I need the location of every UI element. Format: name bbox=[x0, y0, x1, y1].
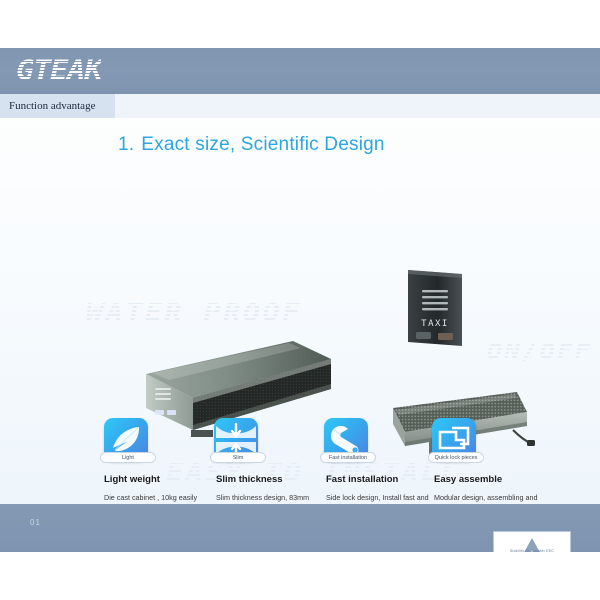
breadcrumb-label: Function advantage bbox=[0, 100, 95, 112]
feature-body: Die cast cabinet , 10kg easily move and … bbox=[104, 492, 212, 504]
feature-title: Fast installation bbox=[326, 474, 434, 485]
breadcrumb-bar-rest bbox=[115, 94, 600, 118]
feature-body: Modular design, assembling and disassemb… bbox=[434, 492, 552, 504]
watermark-water-proof: WATER PROOF bbox=[86, 298, 302, 327]
feature-body: Slim thickness design, 83mm only bbox=[216, 492, 324, 504]
feature-item-easy-assemble[interactable]: Quick lock pieces bbox=[432, 418, 544, 462]
feature-body: Side lock design, Install fast and conve… bbox=[326, 492, 434, 504]
slide-content: 1.Exact size, Scientific Design WATER PR… bbox=[0, 118, 600, 504]
feature-text-easy-assemble: Easy assemble Modular design, assembling… bbox=[434, 474, 552, 504]
letterbox-bottom bbox=[0, 552, 600, 600]
feature-item-fast-installation[interactable]: Fast installation bbox=[324, 418, 436, 462]
letterbox-top bbox=[0, 0, 600, 48]
page-title-text: Exact size, Scientific Design bbox=[141, 134, 384, 155]
page-title: 1.Exact size, Scientific Design bbox=[118, 134, 385, 156]
svg-text:TAXI: TAXI bbox=[421, 319, 449, 329]
feature-title: Slim thickness bbox=[216, 474, 324, 485]
presentation-slide: GTEAK Function advantage 1.Exact size, S… bbox=[0, 48, 600, 552]
taxi-control-panel-photo: TAXI bbox=[400, 266, 472, 352]
feature-icon-caption: Quick lock pieces bbox=[428, 452, 484, 463]
feature-item-slim[interactable]: Slim bbox=[214, 418, 326, 462]
header-bar: GTEAK bbox=[0, 48, 600, 94]
feature-text-light-weight: Light weight Die cast cabinet , 10kg eas… bbox=[104, 474, 212, 504]
page-title-number: 1. bbox=[118, 134, 134, 155]
feature-text-fast-installation: Fast installation Side lock design, Inst… bbox=[326, 474, 434, 504]
breadcrumb[interactable]: Function advantage bbox=[0, 94, 115, 118]
page-number: 01 bbox=[30, 518, 41, 527]
feature-icon-caption: Slim bbox=[210, 452, 266, 463]
feature-title: Light weight bbox=[104, 474, 212, 485]
feature-text-slim-thickness: Slim thickness Slim thickness design, 83… bbox=[216, 474, 324, 504]
slide-canvas: GTEAK Function advantage 1.Exact size, S… bbox=[0, 0, 600, 600]
feature-icon-caption: Light bbox=[100, 452, 156, 463]
feature-icon-caption: Fast installation bbox=[320, 452, 376, 463]
brand-logo: GTEAK bbox=[16, 56, 92, 86]
brand-logo-text: GTEAK bbox=[16, 56, 101, 86]
feature-item-light-weight[interactable]: Light bbox=[104, 418, 216, 462]
stability-badge-text: Stability Of Counter EEC bbox=[494, 549, 570, 552]
watermark-on-off: ON/OFF bbox=[487, 340, 592, 365]
stability-badge: Stability Of Counter EEC bbox=[493, 531, 571, 552]
feature-title: Easy assemble bbox=[434, 474, 552, 485]
